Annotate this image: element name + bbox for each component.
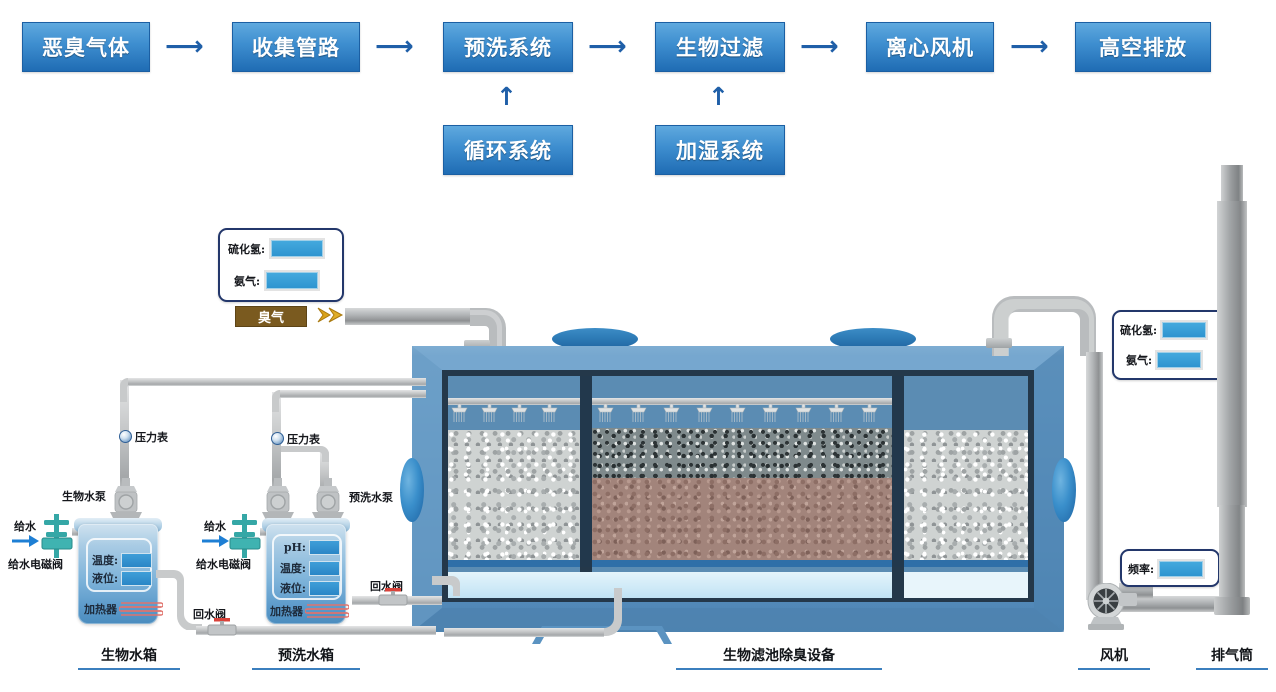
prewash-tank-caption: 预洗水箱: [252, 645, 360, 670]
support-grate-1: [448, 560, 580, 567]
frequency-value[interactable]: [1157, 559, 1205, 579]
exhaust-stack[interactable]: [1214, 165, 1254, 635]
flow-step-high-altitude-discharge[interactable]: 高空排放: [1075, 22, 1211, 72]
stack-lower-section: [1219, 505, 1245, 601]
outlet-sensor-panel[interactable]: 硫化氢: 氨气:: [1112, 310, 1228, 380]
water-sump: [448, 572, 892, 598]
outlet-nh3-label: 氨气:: [1126, 352, 1152, 368]
flow-substep-label: 加湿系统: [676, 135, 764, 165]
outlet-nh3-value[interactable]: [1155, 350, 1203, 370]
prewash-supply-water-label: 给水: [204, 518, 226, 534]
bio-level-row: 液位:: [92, 570, 152, 586]
media-bed-dark-2: [592, 428, 892, 478]
flow-up-arrow-1-icon: ↑: [496, 84, 517, 109]
bio-temp-row: 温度:: [92, 552, 152, 568]
prewash-level-value[interactable]: [309, 581, 340, 596]
pressure-gauge-1-label: 压力表: [135, 429, 168, 445]
stack-base-flange: [1214, 597, 1250, 615]
bio-return-valve-icon[interactable]: [205, 618, 239, 636]
prewash-level-label: 液位:: [278, 580, 306, 596]
flow-substep-circulation-system[interactable]: 循环系统: [443, 125, 573, 175]
inlet-duct-horizontal: [345, 308, 480, 325]
inlet-nh3-label: 氨气:: [234, 273, 260, 289]
bio-supply-water-label: 给水: [14, 518, 36, 534]
flow-arrow-4-icon: ⟶: [800, 33, 839, 60]
vessel-divider-1: [580, 376, 592, 567]
side-access-port-right[interactable]: [1052, 458, 1076, 522]
stack-mid-section: [1217, 201, 1247, 507]
side-access-port-left[interactable]: [400, 458, 424, 522]
support-grate-3: [904, 560, 1028, 567]
flow-step-biofiltration[interactable]: 生物过滤: [655, 22, 785, 72]
media-bed-brown-2: [592, 478, 892, 560]
flow-step-label: 生物过滤: [676, 32, 764, 62]
bio-pump-label: 生物水泵: [62, 488, 106, 504]
flow-step-label: 高空排放: [1099, 32, 1187, 62]
prewash-supply-line-to-vessel: [280, 390, 426, 398]
outlet-riser-pipe: [1086, 352, 1103, 600]
prewash-return-valve-icon[interactable]: [376, 588, 410, 606]
flow-substep-label: 循环系统: [464, 135, 552, 165]
prewash-crossover-pipe-icon: [281, 446, 329, 462]
main-vessel-caption: 生物滤池除臭设备: [676, 645, 882, 670]
process-flowchart: 恶臭气体 ⟶ 收集管路 ⟶ 预洗系统 ⟶ 生物过滤 ⟶ 离心风机 ⟶ 高空排放 …: [0, 0, 1276, 185]
spray-nozzle-group-2-icon: [596, 404, 892, 428]
prewash-ph-label: pH:: [278, 541, 306, 554]
pressure-gauge-2-label: 压力表: [287, 431, 320, 447]
odor-flow-chevron-icon: [316, 304, 346, 328]
flow-step-collection-pipe[interactable]: 收集管路: [232, 22, 360, 72]
flow-step-centrifugal-fan[interactable]: 离心风机: [866, 22, 994, 72]
bio-temp-label: 温度:: [92, 552, 118, 568]
bio-level-label: 液位:: [92, 570, 118, 586]
prewash-solenoid-valve-label: 给水电磁阀: [196, 556, 251, 572]
flow-step-label: 收集管路: [252, 32, 340, 62]
prewash-temp-label: 温度:: [278, 560, 306, 576]
flow-step-label: 预洗系统: [464, 32, 552, 62]
bio-temp-value[interactable]: [121, 553, 152, 568]
inlet-h2s-value[interactable]: [269, 238, 325, 259]
prewash-return-elbow-icon: [432, 576, 460, 606]
flow-step-odorous-gas[interactable]: 恶臭气体: [22, 22, 150, 72]
outlet-duct-flange: [986, 338, 1012, 348]
prewash-ph-row: pH:: [278, 540, 340, 555]
inlet-h2s-label: 硫化氢:: [228, 241, 265, 257]
odor-gas-label-box: 臭气: [235, 306, 307, 327]
pressure-gauge-2-icon[interactable]: [271, 432, 284, 445]
bio-tank-caption: 生物水箱: [78, 645, 180, 670]
flow-arrow-5-icon: ⟶: [1010, 33, 1049, 60]
prewash-level-row: 液位:: [278, 580, 340, 596]
flow-up-arrow-2-icon: ↑: [708, 84, 729, 109]
flow-arrow-3-icon: ⟶: [588, 33, 627, 60]
flow-arrow-2-icon: ⟶: [375, 33, 414, 60]
main-biofilter-vessel[interactable]: [412, 340, 1064, 632]
frequency-label: 频率:: [1128, 561, 1154, 577]
fan-caption: 风机: [1078, 645, 1150, 670]
centrifugal-fan[interactable]: [1085, 583, 1143, 631]
flow-step-label: 离心风机: [886, 32, 974, 62]
flow-substep-humidification-system[interactable]: 加湿系统: [655, 125, 785, 175]
media-bed-gravel-3: [904, 430, 1028, 560]
stack-caption: 排气筒: [1196, 645, 1268, 670]
diagram-canvas: 恶臭气体 ⟶ 收集管路 ⟶ 预洗系统 ⟶ 生物过滤 ⟶ 离心风机 ⟶ 高空排放 …: [0, 0, 1276, 692]
outlet-h2s-label: 硫化氢:: [1120, 322, 1157, 338]
prewash-heater-label: 加热器: [270, 603, 303, 619]
prewash-heater-row: 加热器: [270, 602, 349, 620]
fan-frequency-panel[interactable]: 频率:: [1120, 549, 1220, 587]
vessel-drain-line: [444, 628, 604, 637]
bio-heater-label: 加热器: [84, 601, 117, 617]
spray-nozzle-group-1-icon: [450, 404, 580, 428]
prewash-temp-row: 温度:: [278, 560, 340, 576]
inlet-nh3-value[interactable]: [264, 270, 320, 291]
bio-heater-row: 加热器: [84, 600, 163, 618]
water-sump-right: [904, 572, 1028, 598]
vessel-drain-elbow-icon: [600, 588, 660, 640]
bio-supply-line-to-vessel: [128, 378, 426, 386]
prewash-temp-value[interactable]: [309, 561, 340, 576]
prewash-ph-value[interactable]: [309, 540, 340, 555]
bio-solenoid-valve-label: 给水电磁阀: [8, 556, 63, 572]
heater-coil-icon: [305, 602, 349, 620]
odor-gas-label: 臭气: [258, 307, 284, 326]
support-grate-2: [592, 560, 892, 567]
vessel-divider-2: [892, 376, 904, 567]
bio-level-value[interactable]: [121, 571, 152, 586]
media-bed-gravel-1: [448, 430, 580, 560]
flow-step-prewash-system[interactable]: 预洗系统: [443, 22, 573, 72]
centrifugal-fan-icon: [1085, 583, 1143, 631]
flow-arrow-1-icon: ⟶: [165, 33, 204, 60]
flow-step-label: 恶臭气体: [42, 32, 130, 62]
pressure-gauge-1-icon[interactable]: [119, 430, 132, 443]
outlet-h2s-value[interactable]: [1160, 320, 1208, 340]
inlet-sensor-panel[interactable]: 硫化氢: 氨气:: [218, 228, 344, 302]
prewash-pump-label: 预洗水泵: [349, 489, 393, 505]
prewash-supply-arrow-icon: [202, 534, 230, 548]
bio-supply-arrow-icon: [12, 534, 40, 548]
stack-top-section: [1221, 165, 1243, 205]
